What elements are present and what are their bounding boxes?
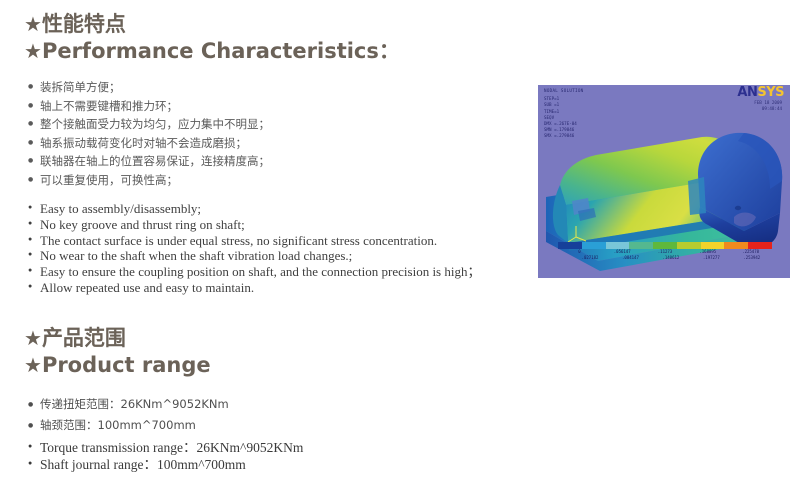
performance-heading-en-text: ★Performance Characteristics： [24,38,400,64]
performance-title-cn: 性能特点 [42,12,126,36]
list-item: The contact surface is under equal stres… [28,233,480,249]
product-range-heading-cn: ★产品范围 [24,326,126,351]
star-icon: ★ [24,326,42,351]
performance-bullets-cn: 装拆简单方便； 轴上不需要键槽和推力环； 整个接触面受力较为均匀，应力集中不明显… [28,78,270,189]
scale-swatch [653,242,677,249]
list-item: 装拆简单方便； [28,78,270,97]
list-item: Shaft journal range：100mm^700mm [28,456,303,473]
list-item: 轴上不需要键槽和推力环； [28,97,270,116]
scale-tick-label: .197277 [691,255,731,261]
list-item: No wear to the shaft when the shaft vibr… [28,248,480,264]
list-item: Easy to ensure the coupling position on … [28,264,480,280]
product-range-title-en: Product range [42,353,211,377]
scale-tick-label: .027182 [570,255,610,261]
list-item: 传递扭矩范围：26KNm^9052KNm [28,394,229,415]
performance-bullets-en: Easy to assembly/disassembly; No key gro… [28,201,480,296]
performance-heading-cn: ★性能特点 [24,12,126,37]
product-range-heading-en-text: ★Product range [24,352,211,378]
list-item: 可以重复使用，可换性高； [28,171,270,190]
list-item: 轴系振动载荷变化时对轴不会造成磨损； [28,134,270,153]
star-icon: ★ [24,352,42,378]
scale-swatch [606,242,630,249]
product-range-title-cn: 产品范围 [42,326,126,350]
list-item: 轴颈范围：100mm^700mm [28,415,229,436]
scale-swatch [748,242,772,249]
fea-header-line: NODAL SOLUTION [544,88,584,94]
performance-heading-en: ★Performance Characteristics： [24,38,400,64]
star-icon: ★ [24,38,42,64]
scale-swatch [582,242,606,249]
product-range-heading-en: ★Product range [24,352,211,378]
star-icon: ★ [24,12,42,37]
list-item: 整个接触面受力较为均匀，应力集中不明显； [28,115,270,134]
performance-heading-cn-text: ★性能特点 [24,12,126,37]
scale-swatch [629,242,653,249]
scale-swatch [677,242,701,249]
scale-tick-label: .253942 [732,255,772,261]
fea-color-scale: 0 .056147 .11273 .168895 .225478 .027182… [558,242,772,261]
product-range-heading-cn-text: ★产品范围 [24,326,126,351]
list-item: 联轴器在轴上的位置容易保证，连接精度高； [28,152,270,171]
list-item: Easy to assembly/disassembly; [28,201,480,217]
scale-labels-lower: .027182 .084147 .140612 .197277 .253942 [570,255,772,261]
list-item: Allow repeated use and easy to maintain. [28,280,480,296]
fea-time: 09:48:44 [754,106,782,112]
product-range-bullets-cn: 传递扭矩范围：26KNm^9052KNm 轴颈范围：100mm^700mm [28,394,229,436]
ansys-logo-sys: SYS [757,85,784,100]
ansys-logo-an: AN [737,85,757,100]
fea-timestamp: FEB 18 2009 09:48:44 [754,100,782,112]
scale-tick-label: .084147 [610,255,650,261]
ansys-fea-figure: NODAL SOLUTION STEP=1 SUB =1 TIME=1 SEQV… [538,85,790,278]
list-item: Torque transmission range：26KNm^9052KNm [28,439,303,456]
color-scale-bar [558,242,772,249]
scale-swatch [558,242,582,249]
list-item: No key groove and thrust ring on shaft; [28,217,480,233]
product-range-bullets-en: Torque transmission range：26KNm^9052KNm … [28,439,303,473]
scale-tick-label: .140612 [651,255,691,261]
scale-swatch [701,242,725,249]
ansys-logo: ANSYS [737,86,784,99]
fea-header-line: SMX =.279846 [544,133,584,139]
fea-header-text: NODAL SOLUTION STEP=1 SUB =1 TIME=1 SEQV… [544,88,584,140]
scale-swatch [724,242,748,249]
performance-title-en: Performance Characteristics： [42,39,400,63]
